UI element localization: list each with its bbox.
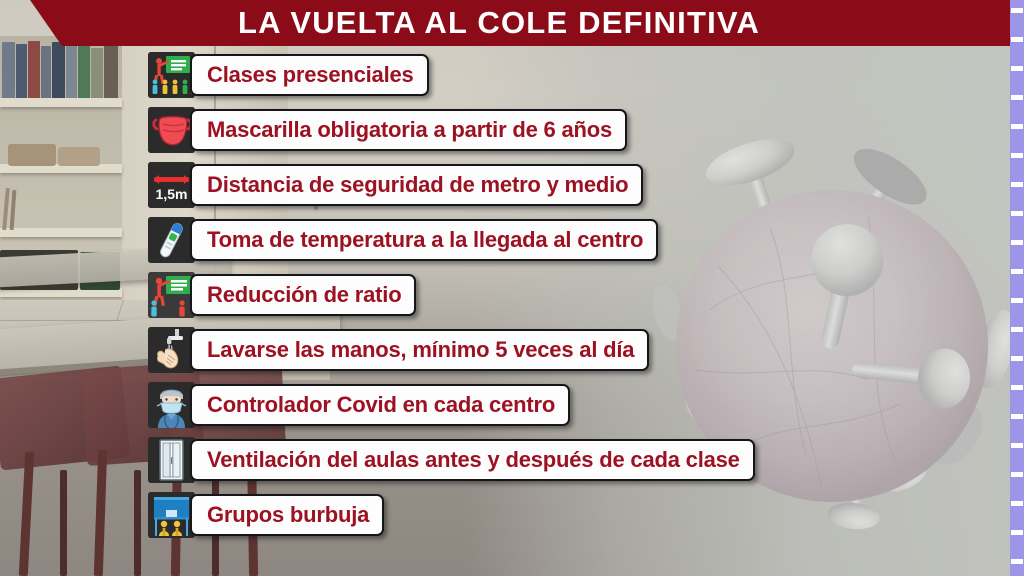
film-dash xyxy=(1011,472,1023,477)
film-dash xyxy=(1011,501,1023,506)
distance-caption: 1,5m xyxy=(156,186,188,202)
measure-pill[interactable]: Reducción de ratio xyxy=(190,274,416,316)
film-dash xyxy=(1011,66,1023,71)
list-item[interactable]: Ventilación del aulas antes y después de… xyxy=(148,437,908,483)
film-dash xyxy=(1011,327,1023,332)
measure-pill[interactable]: Controlador Covid en cada centro xyxy=(190,384,570,426)
thermometer-icon xyxy=(148,217,195,263)
film-dash xyxy=(1011,182,1023,187)
measure-label: Controlador Covid en cada centro xyxy=(207,392,555,418)
film-dash xyxy=(1011,8,1023,13)
right-film-strip xyxy=(1010,0,1024,576)
list-item[interactable]: Lavarse las manos, mínimo 5 veces al día xyxy=(148,327,908,373)
measure-label: Clases presenciales xyxy=(207,62,414,88)
film-dash xyxy=(1011,269,1023,274)
bubble-group-icon xyxy=(148,492,195,538)
film-dash xyxy=(1011,385,1023,390)
film-dash xyxy=(1011,37,1023,42)
film-dash xyxy=(1011,95,1023,100)
handwashing-icon xyxy=(148,327,195,373)
list-item[interactable]: Clases presenciales xyxy=(148,52,908,98)
film-dash xyxy=(1011,124,1023,129)
measure-label: Mascarilla obligatoria a partir de 6 año… xyxy=(207,117,612,143)
film-dash xyxy=(1011,211,1023,216)
measure-label: Toma de temperatura a la llegada al cent… xyxy=(207,227,643,253)
header-banner: LA VUELTA AL COLE DEFINITIVA xyxy=(0,0,1024,46)
list-item[interactable]: Reducción de ratio xyxy=(148,272,908,318)
list-item[interactable]: Mascarilla obligatoria a partir de 6 año… xyxy=(148,107,908,153)
film-dash xyxy=(1011,356,1023,361)
film-dash xyxy=(1011,559,1023,564)
film-dash xyxy=(1011,530,1023,535)
measure-pill[interactable]: Ventilación del aulas antes y después de… xyxy=(190,439,755,481)
open-window-icon xyxy=(148,437,195,483)
reduced-ratio-classroom-icon xyxy=(148,272,195,318)
film-dash xyxy=(1011,443,1023,448)
measure-label: Grupos burbuja xyxy=(207,502,369,528)
measure-label: Ventilación del aulas antes y después de… xyxy=(207,447,740,473)
list-item[interactable]: Controlador Covid en cada centro xyxy=(148,382,908,428)
measure-pill[interactable]: Distancia de seguridad de metro y medio xyxy=(190,164,643,206)
list-item[interactable]: 1,5m Distancia de seguridad de metro y m… xyxy=(148,162,908,208)
measure-label: Lavarse las manos, mínimo 5 veces al día xyxy=(207,337,634,363)
list-item[interactable]: Grupos burbuja xyxy=(148,492,908,538)
measure-pill[interactable]: Grupos burbuja xyxy=(190,494,384,536)
list-item[interactable]: Toma de temperatura a la llegada al cent… xyxy=(148,217,908,263)
film-dash xyxy=(1011,153,1023,158)
medical-worker-icon xyxy=(148,382,195,428)
distance-1-5m-icon: 1,5m xyxy=(148,162,195,208)
measure-pill[interactable]: Mascarilla obligatoria a partir de 6 año… xyxy=(190,109,627,151)
film-dash xyxy=(1011,298,1023,303)
measures-list: Clases presenciales Mascarilla obligator… xyxy=(148,52,908,547)
face-mask-icon xyxy=(148,107,195,153)
measure-pill[interactable]: Lavarse las manos, mínimo 5 veces al día xyxy=(190,329,649,371)
film-dash xyxy=(1011,240,1023,245)
measure-pill[interactable]: Toma de temperatura a la llegada al cent… xyxy=(190,219,658,261)
page-title: LA VUELTA AL COLE DEFINITIVA xyxy=(0,0,1024,46)
measure-pill[interactable]: Clases presenciales xyxy=(190,54,429,96)
measure-label: Reducción de ratio xyxy=(207,282,401,308)
classroom-teacher-icon xyxy=(148,52,195,98)
film-dash xyxy=(1011,414,1023,419)
measure-label: Distancia de seguridad de metro y medio xyxy=(207,172,628,198)
